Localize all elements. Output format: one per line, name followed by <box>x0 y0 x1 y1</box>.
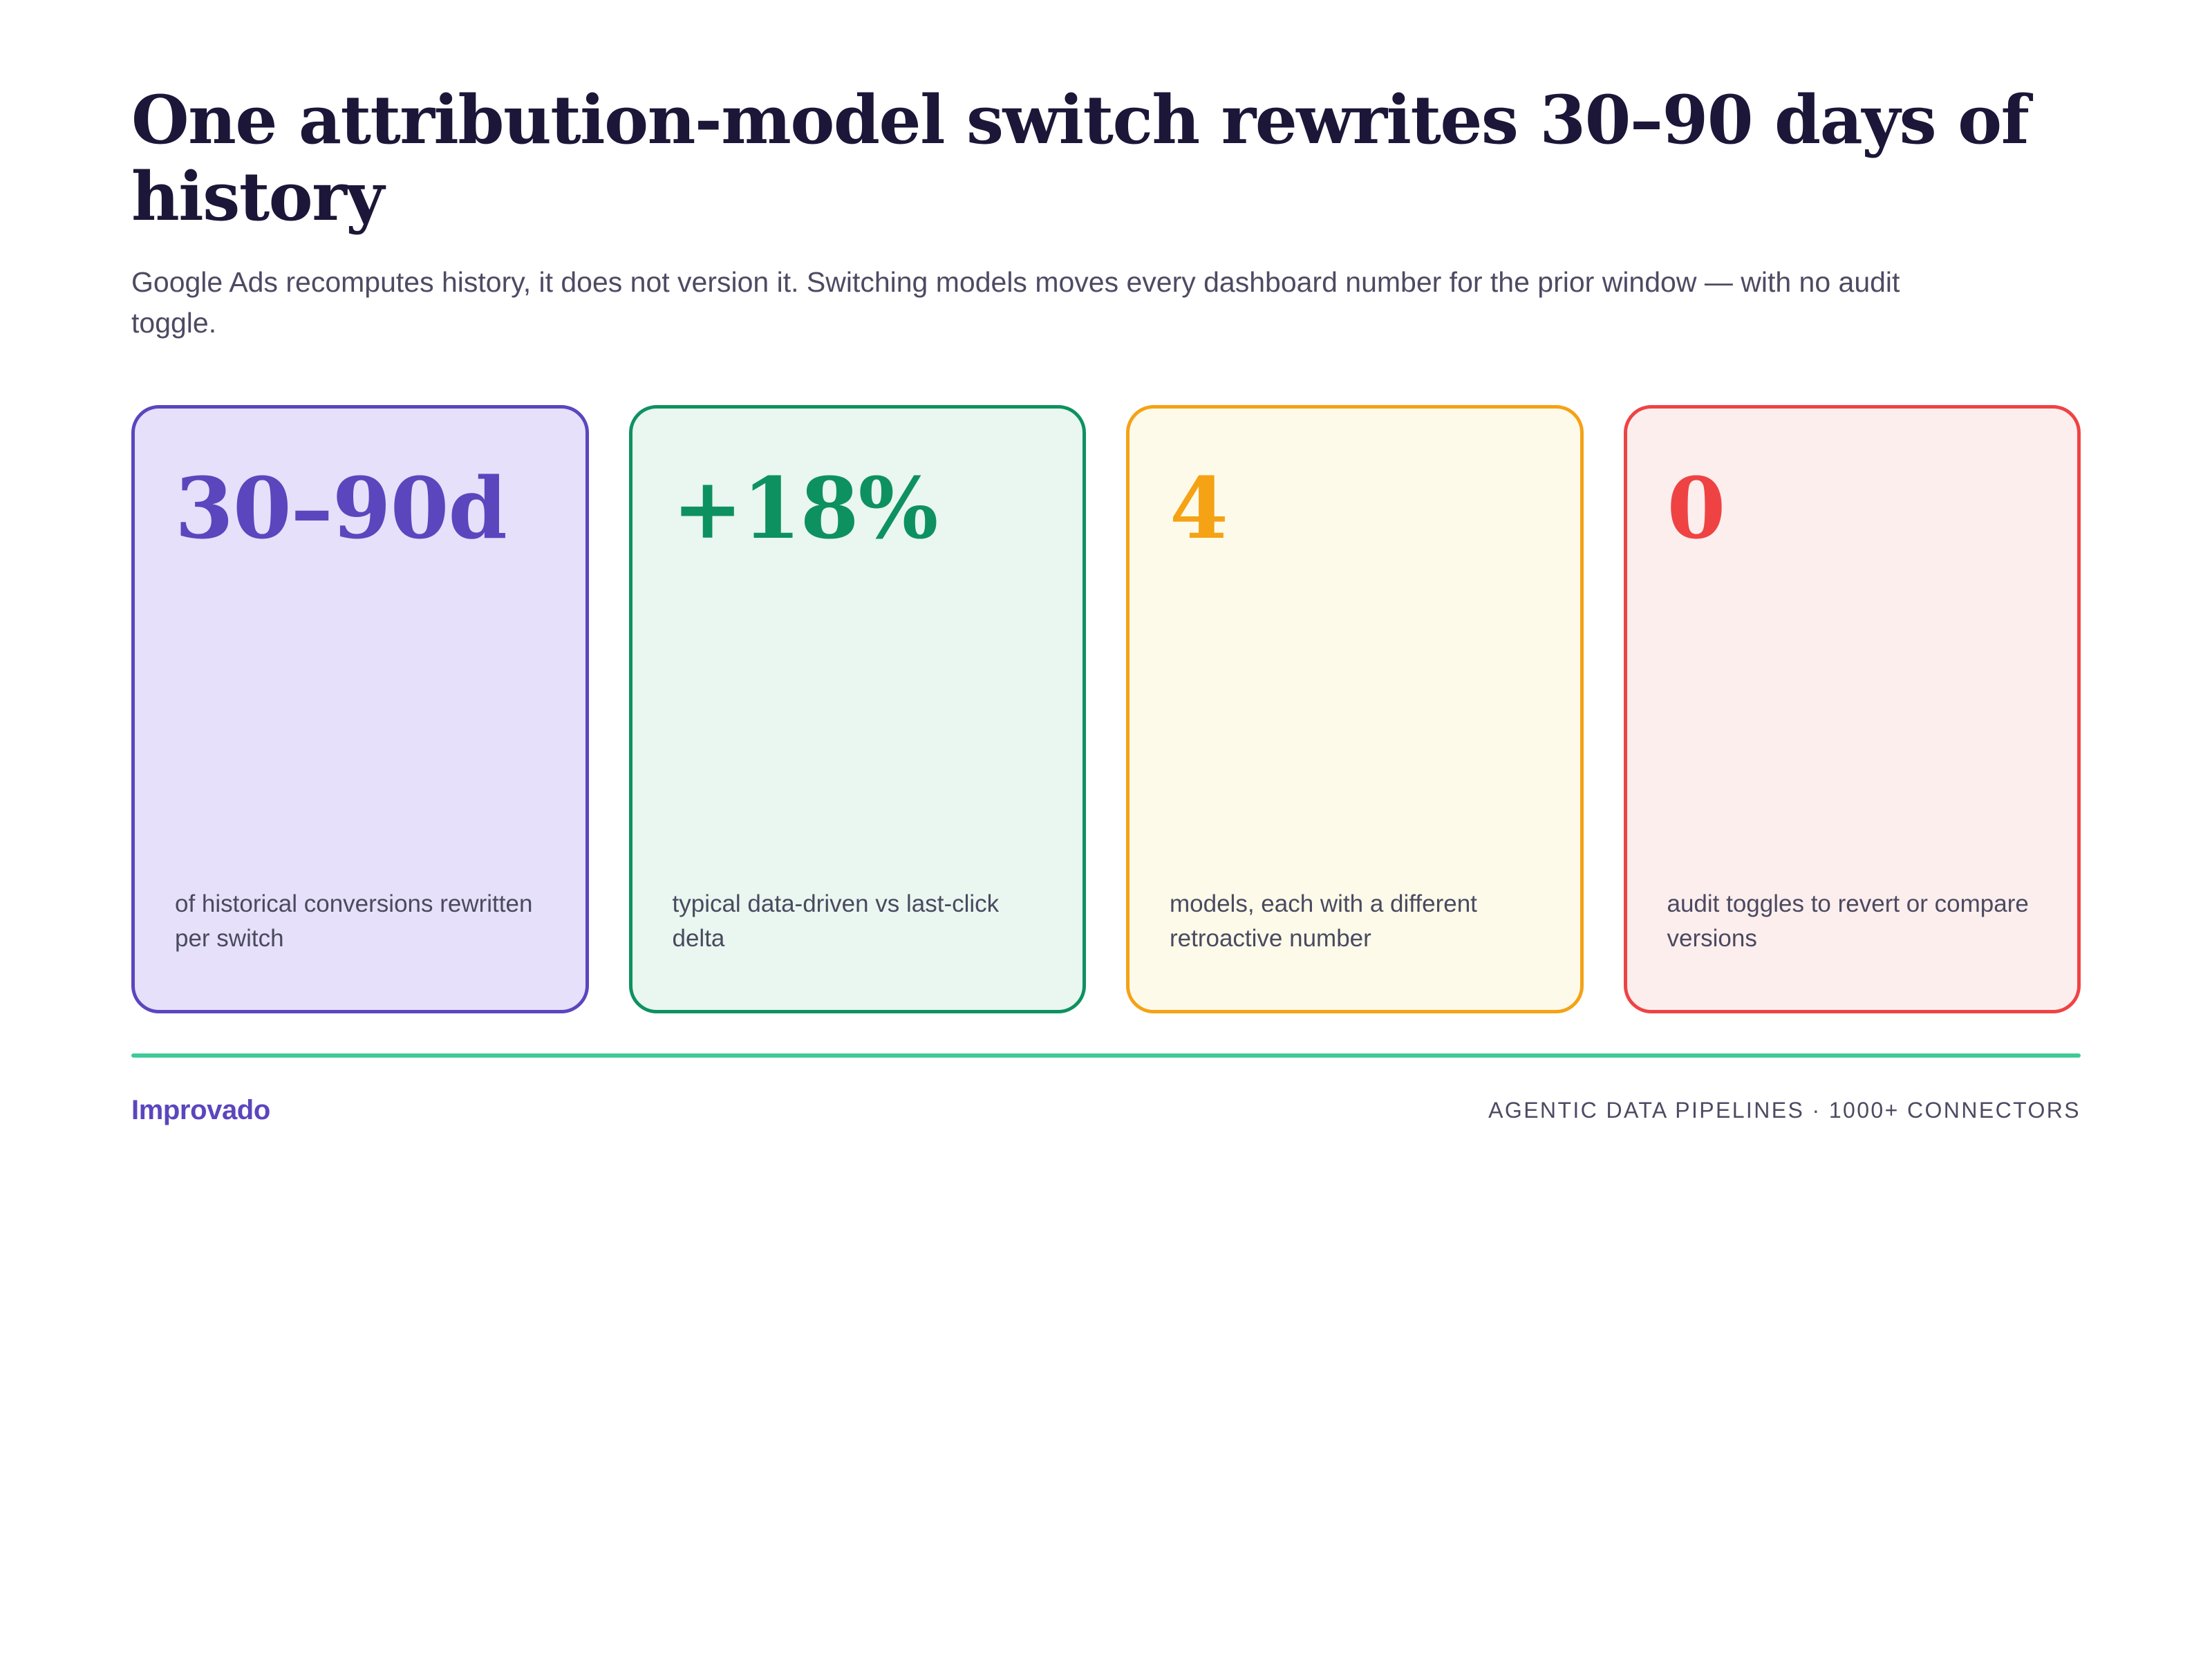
stat-card-label: of historical conversions rewritten per … <box>175 887 545 965</box>
stat-card: 30–90d of historical conversions rewritt… <box>131 405 589 1013</box>
stat-card: +18% typical data-driven vs last-click d… <box>629 405 1087 1013</box>
stat-card-value: 30–90d <box>175 461 545 556</box>
slide-root: One attribution-model switch rewrites 30… <box>0 0 2212 1659</box>
footer-divider <box>131 1053 2081 1058</box>
page-subtitle: Google Ads recomputes history, it does n… <box>131 262 1942 344</box>
header: One attribution-model switch rewrites 30… <box>131 0 2081 344</box>
stat-card-value: +18% <box>673 461 1043 556</box>
stat-card-label: models, each with a different retroactiv… <box>1170 887 1540 965</box>
page-title: One attribution-model switch rewrites 30… <box>131 82 2081 236</box>
stat-card: 0 audit toggles to revert or compare ver… <box>1624 405 2081 1013</box>
stat-card-group: 30–90d of historical conversions rewritt… <box>131 405 2081 1013</box>
stat-card-value: 4 <box>1170 461 1540 556</box>
footer-tagline: AGENTIC DATA PIPELINES · 1000+ CONNECTOR… <box>1488 1098 2081 1123</box>
stat-card: 4 models, each with a different retroact… <box>1126 405 1584 1013</box>
stat-card-value: 0 <box>1667 461 2038 556</box>
brand-logo: Improvado <box>131 1095 270 1126</box>
footer: Improvado AGENTIC DATA PIPELINES · 1000+… <box>131 1095 2081 1126</box>
stat-card-label: typical data-driven vs last-click delta <box>673 887 1043 965</box>
stat-card-label: audit toggles to revert or compare versi… <box>1667 887 2038 965</box>
